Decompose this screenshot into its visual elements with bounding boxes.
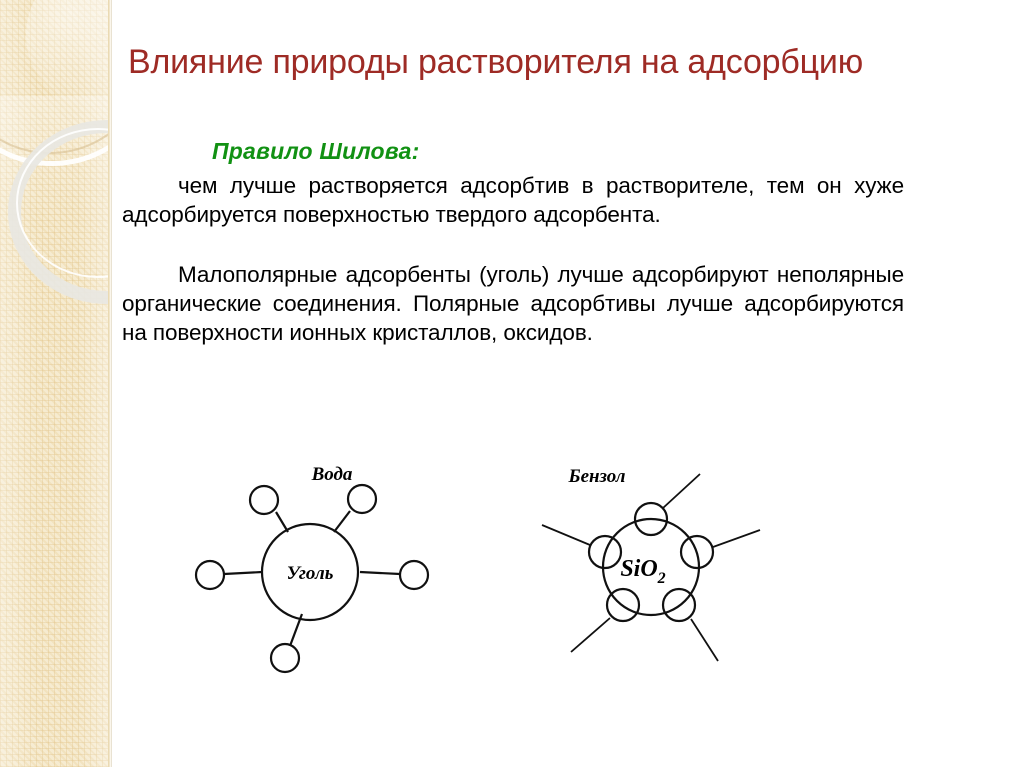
diagram-label-solvent-benzene: Бензол [568, 466, 626, 487]
core-label-subscript: 2 [657, 570, 666, 587]
satellite-circle-5 [271, 644, 299, 672]
bond-right [360, 572, 400, 574]
diagram-row: Вода Уголь Бензол [110, 448, 1024, 698]
tail-bottom-right [691, 619, 718, 661]
diagram-label-core-coal: Уголь [287, 563, 334, 584]
core-label-main: SiO [620, 556, 657, 582]
paragraph-adsorbent-polarity: Малополярные адсорбенты (уголь) лучше ад… [122, 260, 904, 348]
solvent-adsorption-diagrams: Вода Уголь Бензол [110, 448, 1024, 698]
bond-left [224, 572, 262, 574]
page-title: Влияние природы растворителя на адсорбци… [128, 41, 888, 85]
body-text-area: Правило Шилова: чем лучше растворяется а… [122, 138, 904, 347]
decorative-side-band [0, 0, 110, 767]
tail-left [542, 525, 590, 545]
satellite-circle-2 [348, 485, 376, 513]
bond-top-left [276, 512, 288, 532]
satellite-circle-4 [400, 561, 428, 589]
diagram-label-solvent-water: Вода [311, 464, 353, 485]
satellite-circle-1 [250, 486, 278, 514]
satellite-circle-3 [196, 561, 224, 589]
paragraph-shilov-rule: чем лучше растворяется адсорбтив в раств… [122, 171, 904, 230]
diagram-label-core-silica: SiO2 [620, 556, 665, 587]
slide-canvas: Влияние природы растворителя на адсорбци… [0, 0, 1024, 767]
tail-bottom-left [571, 618, 610, 652]
tail-right [713, 530, 760, 547]
tail-top [663, 474, 700, 508]
bond-top-right [334, 511, 350, 532]
rule-heading: Правило Шилова: [212, 138, 904, 165]
